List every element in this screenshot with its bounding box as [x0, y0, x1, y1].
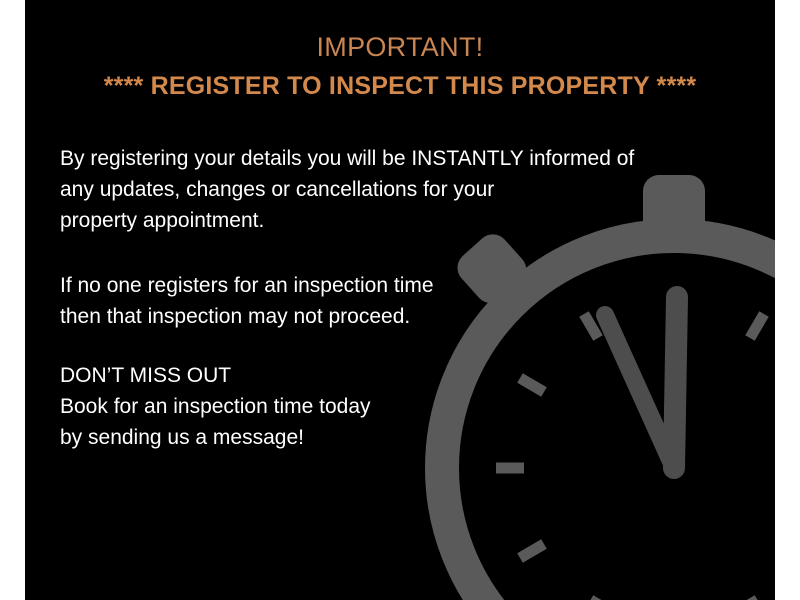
paragraph-registering-details: By registering your details you will be … [60, 143, 740, 236]
cta-dont-miss-out: DON’T MISS OUT [60, 360, 740, 391]
paragraph2-line1: If no one registers for an inspection ti… [60, 270, 740, 301]
headline-register-to-inspect: **** REGISTER TO INSPECT THIS PROPERTY *… [25, 66, 775, 106]
headline-block: IMPORTANT! **** REGISTER TO INSPECT THIS… [25, 28, 775, 106]
slide-panel: IMPORTANT! **** REGISTER TO INSPECT THIS… [25, 0, 775, 600]
paragraph1-line2: any updates, changes or cancellations fo… [60, 174, 740, 205]
cta-book-inspection: Book for an inspection time today [60, 391, 740, 422]
paragraph-no-registration-warning: If no one registers for an inspection ti… [60, 270, 740, 332]
paragraph-call-to-action: DON’T MISS OUT Book for an inspection ti… [60, 360, 740, 453]
paragraph1-line3: property appointment. [60, 205, 740, 236]
slide-content: IMPORTANT! **** REGISTER TO INSPECT THIS… [25, 0, 775, 600]
slide-canvas: IMPORTANT! **** REGISTER TO INSPECT THIS… [0, 0, 800, 600]
headline-important: IMPORTANT! [25, 28, 775, 66]
paragraph1-line1: By registering your details you will be … [60, 143, 740, 174]
cta-send-message: by sending us a message! [60, 422, 740, 453]
paragraph2-line2: then that inspection may not proceed. [60, 301, 740, 332]
